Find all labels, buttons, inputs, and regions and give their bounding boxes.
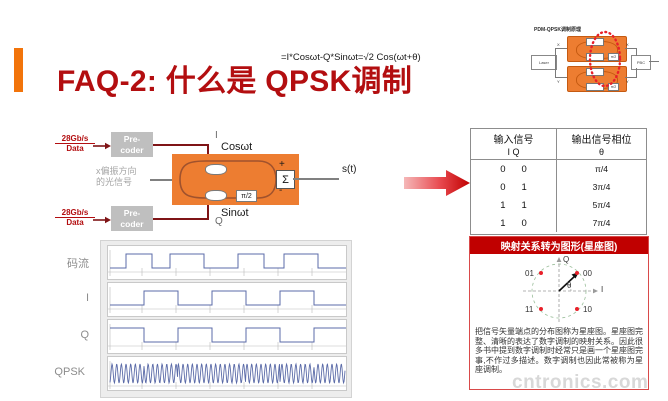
q-trace	[108, 320, 346, 353]
table-cell-iq: 11	[471, 196, 557, 214]
table-header-input-sub: I Q	[471, 147, 556, 157]
table-cell-theta: π/4	[557, 164, 646, 174]
waveform-label-i: I	[49, 292, 89, 304]
constellation-svg	[470, 254, 648, 328]
table-cell-theta: 5π/4	[557, 200, 646, 210]
watermark: cntronics.com	[512, 372, 648, 394]
thumbnail-y-label: Y	[557, 79, 560, 84]
table-header-row: 输入信号 I Q 输出信号相位 θ	[471, 129, 646, 160]
constellation-point-10	[575, 307, 579, 311]
waveform-row-bitstream	[107, 245, 347, 280]
waveform-row-qpsk	[107, 356, 347, 391]
mzm-top-element	[205, 164, 227, 175]
output-signal-label: s(t)	[342, 164, 356, 175]
qpsk-equation: =I*Cosωt-Q*Sinωt=√2 Cos(ωt+θ)	[281, 52, 421, 63]
constellation-theta-label: θ	[567, 281, 571, 290]
constellation-label-01: 01	[525, 269, 534, 278]
waveform-label-qpsk: QPSK	[45, 366, 85, 378]
input-top-label: 28Gb/s Data	[55, 134, 95, 153]
constellation-diagram: 00 01 11 10 Q I θ	[470, 254, 648, 328]
constellation-point-00	[575, 271, 579, 275]
bitstream-trace	[108, 246, 346, 279]
constellation-axis-q-label: Q	[563, 255, 569, 264]
precoder-bottom-block: Pre- coder	[111, 206, 153, 231]
table-row: 10 7π/4	[471, 214, 646, 232]
mzm-bottom-element	[205, 190, 227, 201]
constellation-label-00: 00	[583, 269, 592, 278]
input-top-arrow-icon	[93, 142, 111, 150]
table-cell-theta: 7π/4	[557, 218, 646, 228]
waveform-panel: 码流 I Q QPSK	[100, 240, 352, 398]
flow-arrow-icon	[404, 170, 470, 196]
waveform-label-q: Q	[49, 329, 89, 341]
slide: FAQ-2: 什么是 QPSK调制 PDM-QPSK调制原理 Laser PBC…	[0, 0, 668, 401]
input-bottom-label: 28Gb/s Data	[55, 208, 95, 227]
precoder-top-block: Pre- coder	[111, 132, 153, 157]
cos-carrier-label: Cosωt	[221, 141, 252, 153]
table-header-output-sub: θ	[557, 147, 646, 157]
thumbnail-caption: PDM-QPSK调制原理	[534, 26, 581, 33]
waveform-label-bitstream: 码流	[49, 255, 89, 271]
table-cell-iq: 00	[471, 160, 557, 178]
constellation-label-11: 11	[525, 305, 533, 314]
waveform-row-q	[107, 319, 347, 354]
i-trace	[108, 283, 346, 316]
constellation-axis-i-label: I	[601, 285, 603, 294]
table-header-output: 输出信号相位 θ	[557, 129, 646, 159]
input-bottom-arrow-icon	[93, 216, 111, 224]
qpsk-modulator-diagram: 28Gb/s Data Pre- coder 28Gb/s Data Pre- …	[55, 128, 355, 238]
sin-carrier-label: Sinωt	[221, 207, 249, 219]
constellation-card: 映射关系转为图形(星座图) 00 01 11 10 Q I θ	[469, 236, 649, 390]
constellation-description: 把信号矢量端点的分布图称为星座图。星座图完整、清晰的表达了数字调制的映射关系。因…	[475, 327, 643, 375]
constellation-card-heading: 映射关系转为图形(星座图)	[470, 237, 648, 254]
table-cell-iq: 01	[471, 178, 557, 196]
table-row: 01 3π/4	[471, 178, 646, 196]
title-accent-bar	[14, 48, 23, 92]
constellation-point-11	[539, 307, 543, 311]
constellation-label-10: 10	[583, 305, 592, 314]
table-cell-theta: 3π/4	[557, 182, 646, 192]
thumbnail-highlight-ellipse	[587, 28, 665, 90]
table-header-input: 输入信号 I Q	[471, 129, 557, 159]
pdm-qpsk-thumbnail: PDM-QPSK调制原理 Laser PBC π/2 π/2 X Y X Y	[527, 22, 659, 94]
optical-input-label: x偏振方向 的光信号	[96, 166, 170, 188]
table-cell-iq: 10	[471, 214, 557, 232]
constellation-point-01	[539, 271, 543, 275]
waveform-row-i	[107, 282, 347, 317]
summer-plus-sign: +	[279, 159, 285, 170]
qpsk-truth-table: 输入信号 I Q 输出信号相位 θ 00 π/4 01 3π/4 11	[470, 128, 647, 235]
thumbnail-x-label: X	[557, 42, 560, 47]
phase-shifter-block: π/2	[236, 190, 257, 202]
table-row: 00 π/4	[471, 160, 646, 178]
i-branch-label: I	[215, 130, 218, 141]
summer-minus-sign: -	[279, 185, 282, 196]
thumbnail-laser-block: Laser	[531, 55, 557, 70]
table-row: 11 5π/4	[471, 196, 646, 214]
qpsk-carrier-trace	[108, 357, 346, 390]
